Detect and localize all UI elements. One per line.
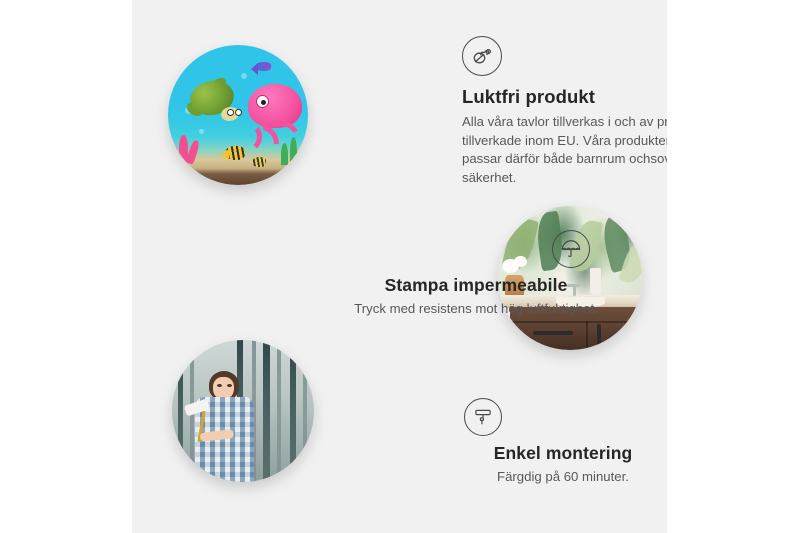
seaweed	[290, 137, 297, 167]
umbrella-icon	[552, 230, 590, 268]
feature-odourless: Luktfri produkt Alla våra tavlor tillver…	[462, 36, 667, 188]
no-spray-bottle-icon	[462, 36, 502, 76]
feature-title: Enkel montering	[438, 443, 667, 464]
tree-trunk	[303, 340, 307, 482]
underwater-scene	[168, 45, 308, 185]
tree-trunk	[263, 340, 270, 482]
fish	[252, 157, 266, 167]
feature-title: Luktfri produkt	[462, 86, 667, 108]
feature-mounting: Enkel montering Färgdig på 60 minuter.	[438, 398, 667, 487]
feature-body: Färgdig på 60 minuter.	[438, 468, 667, 487]
feature-body: Alla våra tavlor tillverkas i och av pro…	[462, 113, 667, 188]
image-underwater-kids-mural	[168, 45, 308, 185]
vanity-seam	[586, 321, 588, 350]
feature-icon-wrap	[346, 230, 606, 268]
bubble-icon	[199, 129, 204, 134]
image-woman-paint-roller-forest	[172, 340, 314, 482]
screenshot-root: Luktfri produkt Alla våra tavlor tillver…	[0, 0, 800, 533]
feature-icon-wrap	[438, 398, 667, 436]
paint-roller-icon	[464, 398, 502, 436]
tree-trunk	[178, 340, 183, 482]
feature-body: Tryck med resistens mot hög luftfuktighe…	[346, 300, 606, 319]
vanity-seam	[510, 321, 642, 323]
content-panel: Luktfri produkt Alla våra tavlor tillver…	[132, 0, 667, 533]
woman-forest-scene	[172, 340, 314, 482]
drawer-handle	[533, 331, 573, 335]
feature-waterproof: Stampa impermeabile Tryck med resistens …	[346, 230, 606, 319]
feature-title: Stampa impermeabile	[346, 275, 606, 296]
octopus-pupil	[261, 100, 266, 105]
cabinet-handle	[597, 324, 601, 350]
fish-tail	[221, 149, 229, 161]
tree-trunk	[277, 340, 281, 482]
bubble-icon	[241, 73, 247, 79]
fish-tail	[251, 63, 258, 75]
tree-trunk	[290, 340, 296, 482]
